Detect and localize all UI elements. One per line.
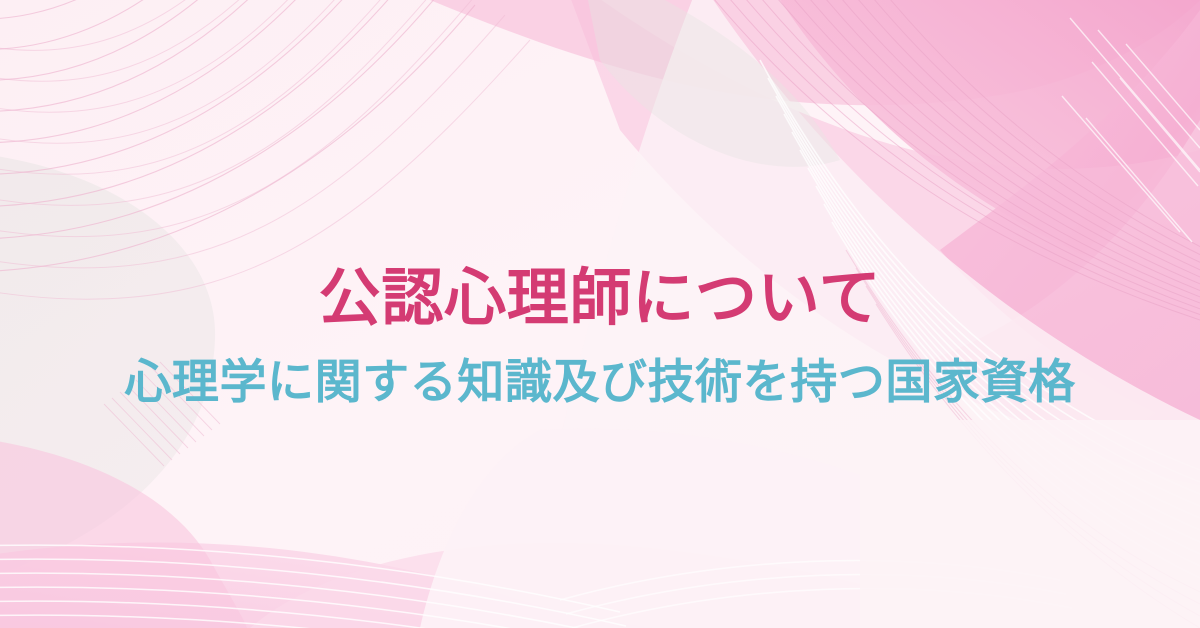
banner: 公認心理師について 心理学に関する知識及び技術を持つ国家資格 <box>0 0 1200 628</box>
banner-content: 公認心理師について 心理学に関する知識及び技術を持つ国家資格 <box>0 0 1200 628</box>
page-title: 公認心理師について <box>319 266 882 331</box>
page-subtitle: 心理学に関する知識及び技術を持つ国家資格 <box>124 357 1075 408</box>
